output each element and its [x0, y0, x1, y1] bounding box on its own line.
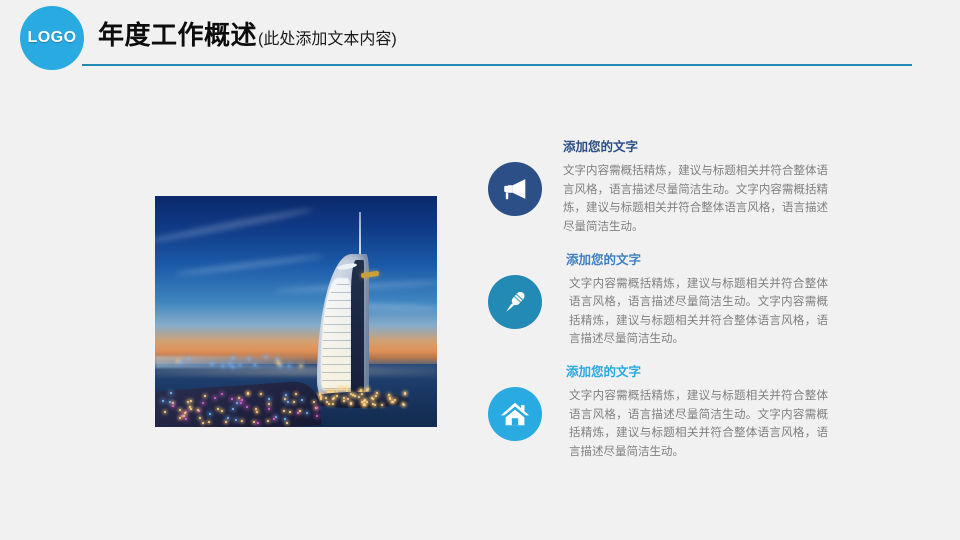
- light-dot: [301, 399, 303, 401]
- list-item[interactable]: 添加您的文字 文字内容需概括精炼，建议与标题相关并符合整体语言风格，语言描述尽量…: [488, 365, 828, 462]
- light-dot: [392, 401, 394, 403]
- light-dot: [341, 388, 343, 390]
- light-dot: [240, 402, 242, 404]
- light-dot: [273, 418, 275, 420]
- light-dot: [221, 393, 223, 395]
- light-dot: [197, 409, 199, 411]
- list-item-heading: 添加您的文字: [566, 253, 828, 268]
- light-dot: [320, 398, 322, 400]
- light-dot: [402, 403, 404, 405]
- light-dot: [179, 417, 181, 419]
- bullet-list: 添加您的文字 文字内容需概括精炼，建议与标题相关并符合整体语言风格，语言描述尽量…: [488, 140, 828, 478]
- light-dot: [347, 398, 349, 400]
- light-dot: [284, 398, 286, 400]
- light-dot: [254, 364, 256, 366]
- light-dot: [283, 410, 285, 412]
- light-dot: [287, 401, 289, 403]
- light-dot: [285, 394, 287, 396]
- light-dot: [177, 360, 179, 362]
- list-item-body: 文字内容需概括精炼，建议与标题相关并符合整体语言风格，语言描述尽量简洁生动。文字…: [566, 387, 828, 462]
- list-item-heading: 添加您的文字: [566, 365, 828, 380]
- light-dot: [343, 400, 345, 402]
- light-dot: [172, 405, 174, 407]
- light-dot: [170, 392, 172, 394]
- light-dot: [316, 407, 318, 409]
- light-dot: [332, 398, 334, 400]
- light-dot: [204, 395, 206, 397]
- light-dot: [371, 397, 373, 399]
- light-dot: [319, 393, 321, 395]
- list-item-heading: 添加您的文字: [563, 140, 828, 155]
- light-dot: [332, 403, 334, 405]
- light-dot: [247, 393, 249, 395]
- light-dot: [297, 412, 299, 414]
- light-dot: [164, 411, 166, 413]
- light-dot: [388, 394, 390, 396]
- light-dot: [235, 419, 237, 421]
- tower-restaurant-arm: [361, 271, 380, 278]
- light-dot: [268, 408, 270, 410]
- home-icon[interactable]: [488, 387, 542, 441]
- light-dot: [375, 395, 377, 397]
- light-dot: [241, 399, 243, 401]
- light-dot: [295, 393, 297, 395]
- light-dot: [289, 411, 291, 413]
- light-dot: [221, 410, 223, 412]
- distant-city-skyline: [155, 356, 305, 368]
- light-dot: [179, 409, 181, 411]
- burj-al-arab-sunset-photo: [155, 196, 437, 427]
- slide-header: LOGO 年度工作概述(此处添加文本内容): [0, 0, 960, 70]
- light-dot: [190, 408, 192, 410]
- light-dot: [363, 404, 365, 406]
- light-dot: [255, 408, 257, 410]
- light-dot: [231, 398, 233, 400]
- light-dot: [336, 395, 338, 397]
- light-dot: [300, 365, 302, 367]
- light-dot: [190, 400, 192, 402]
- light-dot: [188, 358, 190, 360]
- light-dot: [328, 403, 330, 405]
- light-dot: [343, 397, 345, 399]
- light-dot: [238, 397, 240, 399]
- light-dot: [346, 388, 348, 390]
- light-dot: [364, 399, 366, 401]
- light-dot: [280, 365, 282, 367]
- light-dot: [350, 403, 352, 405]
- light-dot: [183, 415, 185, 417]
- list-item-body: 文字内容需概括精炼，建议与标题相关并符合整体语言风格，语言描述尽量简洁生动。文字…: [566, 275, 828, 350]
- light-dot: [275, 416, 277, 418]
- light-dot: [227, 417, 229, 419]
- light-dot: [202, 422, 204, 424]
- light-dot: [185, 418, 187, 420]
- light-dot: [187, 401, 189, 403]
- light-dot: [202, 402, 204, 404]
- light-dot: [358, 396, 360, 398]
- shoreline-lights: [159, 392, 319, 422]
- light-dot: [260, 393, 262, 395]
- tower-mast: [359, 212, 361, 260]
- header-divider: [82, 64, 912, 66]
- light-dot: [199, 417, 201, 419]
- light-dot: [232, 408, 234, 410]
- page-title-sub: (此处添加文本内容): [258, 31, 397, 48]
- list-item-text: 添加您的文字 文字内容需概括精炼，建议与标题相关并符合整体语言风格，语言描述尽量…: [566, 365, 828, 462]
- light-dot: [299, 410, 301, 412]
- light-dot: [394, 399, 396, 401]
- light-dot: [389, 398, 391, 400]
- logo-badge[interactable]: LOGO: [20, 6, 84, 70]
- light-dot: [276, 358, 278, 360]
- light-dot: [225, 421, 227, 423]
- light-dot: [209, 413, 211, 415]
- tower-spine: [351, 260, 364, 396]
- light-dot: [232, 366, 234, 368]
- light-dot: [222, 365, 224, 367]
- list-item[interactable]: 添加您的文字 文字内容需概括精炼，建议与标题相关并符合整体语言风格，语言描述尽量…: [488, 253, 828, 350]
- light-dot: [211, 363, 213, 365]
- light-dot: [366, 401, 368, 403]
- list-item-body: 文字内容需概括精炼，建议与标题相关并符合整体语言风格，语言描述尽量简洁生动。文字…: [563, 162, 828, 237]
- light-dot: [306, 412, 308, 414]
- list-item-text: 添加您的文字 文字内容需概括精炼，建议与标题相关并符合整体语言风格，语言描述尽量…: [566, 253, 828, 350]
- light-dot: [293, 401, 295, 403]
- page-title: 年度工作概述(此处添加文本内容): [98, 22, 397, 48]
- list-item-text: 添加您的文字 文字内容需概括精炼，建议与标题相关并符合整体语言风格，语言描述尽量…: [563, 140, 828, 237]
- light-dot: [232, 357, 234, 359]
- light-dot: [184, 412, 186, 414]
- light-dot: [162, 400, 164, 402]
- page-title-main: 年度工作概述: [98, 20, 257, 50]
- logo-label: LOGO: [27, 29, 76, 47]
- light-dot: [241, 420, 243, 422]
- microphone-icon[interactable]: [488, 275, 542, 329]
- light-dot: [267, 420, 269, 422]
- light-dot: [286, 422, 288, 424]
- light-dot: [208, 421, 210, 423]
- light-dot: [236, 402, 238, 404]
- light-dot: [217, 408, 219, 410]
- light-dot: [325, 397, 327, 399]
- light-dot: [265, 356, 267, 358]
- light-dot: [214, 397, 216, 399]
- light-dot: [361, 393, 363, 395]
- light-dot: [180, 361, 182, 363]
- light-dot: [246, 406, 248, 408]
- megaphone-icon[interactable]: [488, 162, 542, 216]
- list-item[interactable]: 添加您的文字 文字内容需概括精炼，建议与标题相关并符合整体语言风格，语言描述尽量…: [488, 140, 828, 237]
- light-dot: [354, 395, 356, 397]
- light-dot: [316, 415, 318, 417]
- light-dot: [248, 358, 250, 360]
- light-dot: [313, 401, 315, 403]
- light-dot: [268, 403, 270, 405]
- light-dot: [284, 418, 286, 420]
- light-dot: [229, 363, 231, 365]
- light-dot: [256, 411, 258, 413]
- light-dot: [257, 422, 259, 424]
- light-dot: [239, 364, 241, 366]
- island-lights: [309, 392, 405, 405]
- light-dot: [253, 421, 255, 423]
- light-dot: [172, 402, 174, 404]
- light-dot: [268, 398, 270, 400]
- light-dot: [376, 392, 378, 394]
- burj-al-arab-tower: [317, 244, 377, 396]
- light-dot: [288, 365, 290, 367]
